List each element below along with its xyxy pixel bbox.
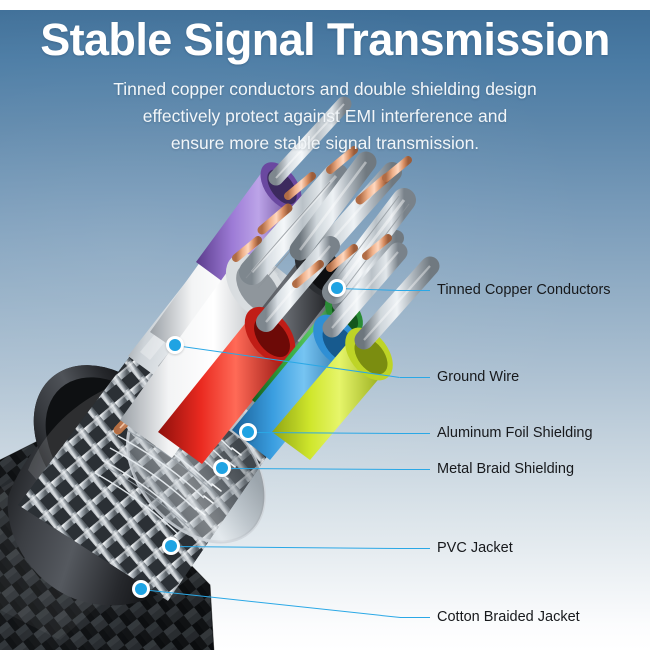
- page-title: Stable Signal Transmission: [0, 14, 650, 66]
- callout-label-aluminum-foil-shielding: Aluminum Foil Shielding: [437, 424, 593, 442]
- callout-dot-pvc-jacket[interactable]: [162, 537, 180, 555]
- callout-label-ground-wire: Ground Wire: [437, 368, 519, 386]
- callout-dot-aluminum-foil-shielding[interactable]: [239, 423, 257, 441]
- subtitle-line-3: ensure more stable signal transmission.: [55, 130, 595, 157]
- product-infographic: Stable Signal Transmission Tinned copper…: [0, 0, 650, 650]
- callout-tick-tinned-copper-conductors: [400, 290, 430, 291]
- callout-dot-tinned-copper-conductors[interactable]: [328, 279, 346, 297]
- callout-dot-core: [135, 583, 147, 595]
- callout-tick-pvc-jacket: [400, 548, 430, 549]
- callout-dot-metal-braid-shielding[interactable]: [213, 459, 231, 477]
- callout-label-metal-braid-shielding: Metal Braid Shielding: [437, 460, 574, 478]
- callout-tick-ground-wire: [400, 377, 430, 378]
- callout-dot-core: [169, 339, 181, 351]
- callout-dot-core: [216, 462, 228, 474]
- callout-tick-cotton-braided-jacket: [400, 617, 430, 618]
- subtitle-line-1: Tinned copper conductors and double shie…: [55, 76, 595, 103]
- callout-dot-core: [242, 426, 254, 438]
- subtitle-line-2: effectively protect against EMI interfer…: [55, 103, 595, 130]
- conductor-bundle: [120, 104, 430, 464]
- callout-tick-aluminum-foil-shielding: [400, 433, 430, 434]
- callout-label-tinned-copper-conductors: Tinned Copper Conductors: [437, 281, 611, 299]
- page-subtitle: Tinned copper conductors and double shie…: [55, 76, 595, 157]
- callout-dot-ground-wire[interactable]: [166, 336, 184, 354]
- callout-dot-core: [331, 282, 343, 294]
- callout-dot-cotton-braided-jacket[interactable]: [132, 580, 150, 598]
- callout-label-pvc-jacket: PVC Jacket: [437, 539, 513, 557]
- callout-tick-metal-braid-shielding: [400, 469, 430, 470]
- callout-label-cotton-braided-jacket: Cotton Braided Jacket: [437, 608, 580, 626]
- callout-dot-core: [165, 540, 177, 552]
